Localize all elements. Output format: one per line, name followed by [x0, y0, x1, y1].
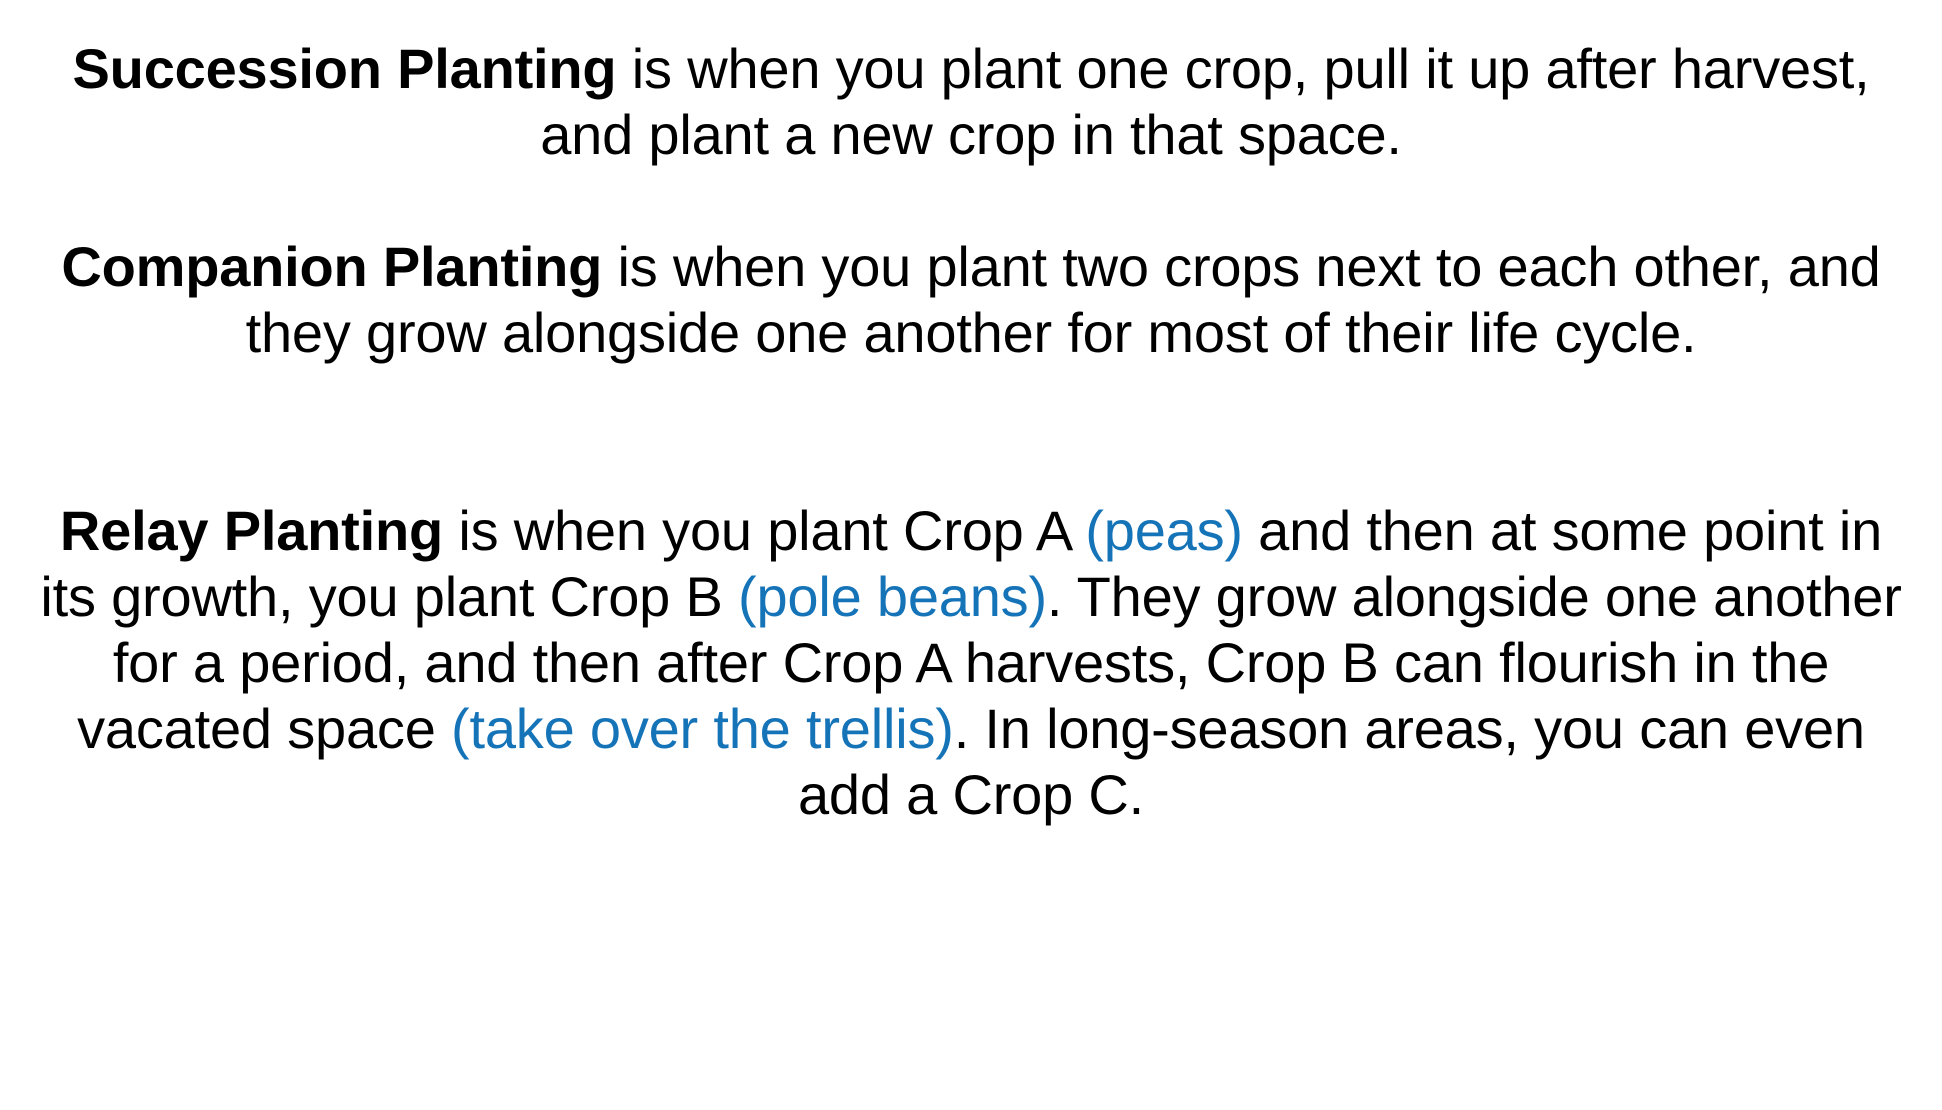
text-content-block: Succession Planting is when you plant on… — [26, 36, 1916, 828]
crop-a-annotation-peas: (peas) — [1085, 499, 1243, 562]
relay-text-part-4: . In long-season areas, you can even add… — [798, 697, 1865, 826]
paragraph-succession-planting: Succession Planting is when you plant on… — [26, 36, 1916, 168]
term-succession-planting: Succession Planting — [73, 37, 617, 100]
relay-text-part-1: is when you plant Crop A — [443, 499, 1085, 562]
term-companion-planting: Companion Planting — [61, 235, 602, 298]
definition-succession-planting: is when you plant one crop, pull it up a… — [540, 37, 1869, 166]
slide-canvas: Succession Planting is when you plant on… — [0, 0, 1942, 1110]
paragraph-companion-planting: Companion Planting is when you plant two… — [26, 234, 1916, 366]
crop-b-annotation-pole-beans: (pole beans) — [738, 565, 1047, 628]
vacated-space-annotation-take-over-the-trellis: (take over the trellis) — [451, 697, 954, 760]
term-relay-planting: Relay Planting — [60, 499, 443, 562]
paragraph-relay-planting: Relay Planting is when you plant Crop A … — [26, 498, 1916, 828]
